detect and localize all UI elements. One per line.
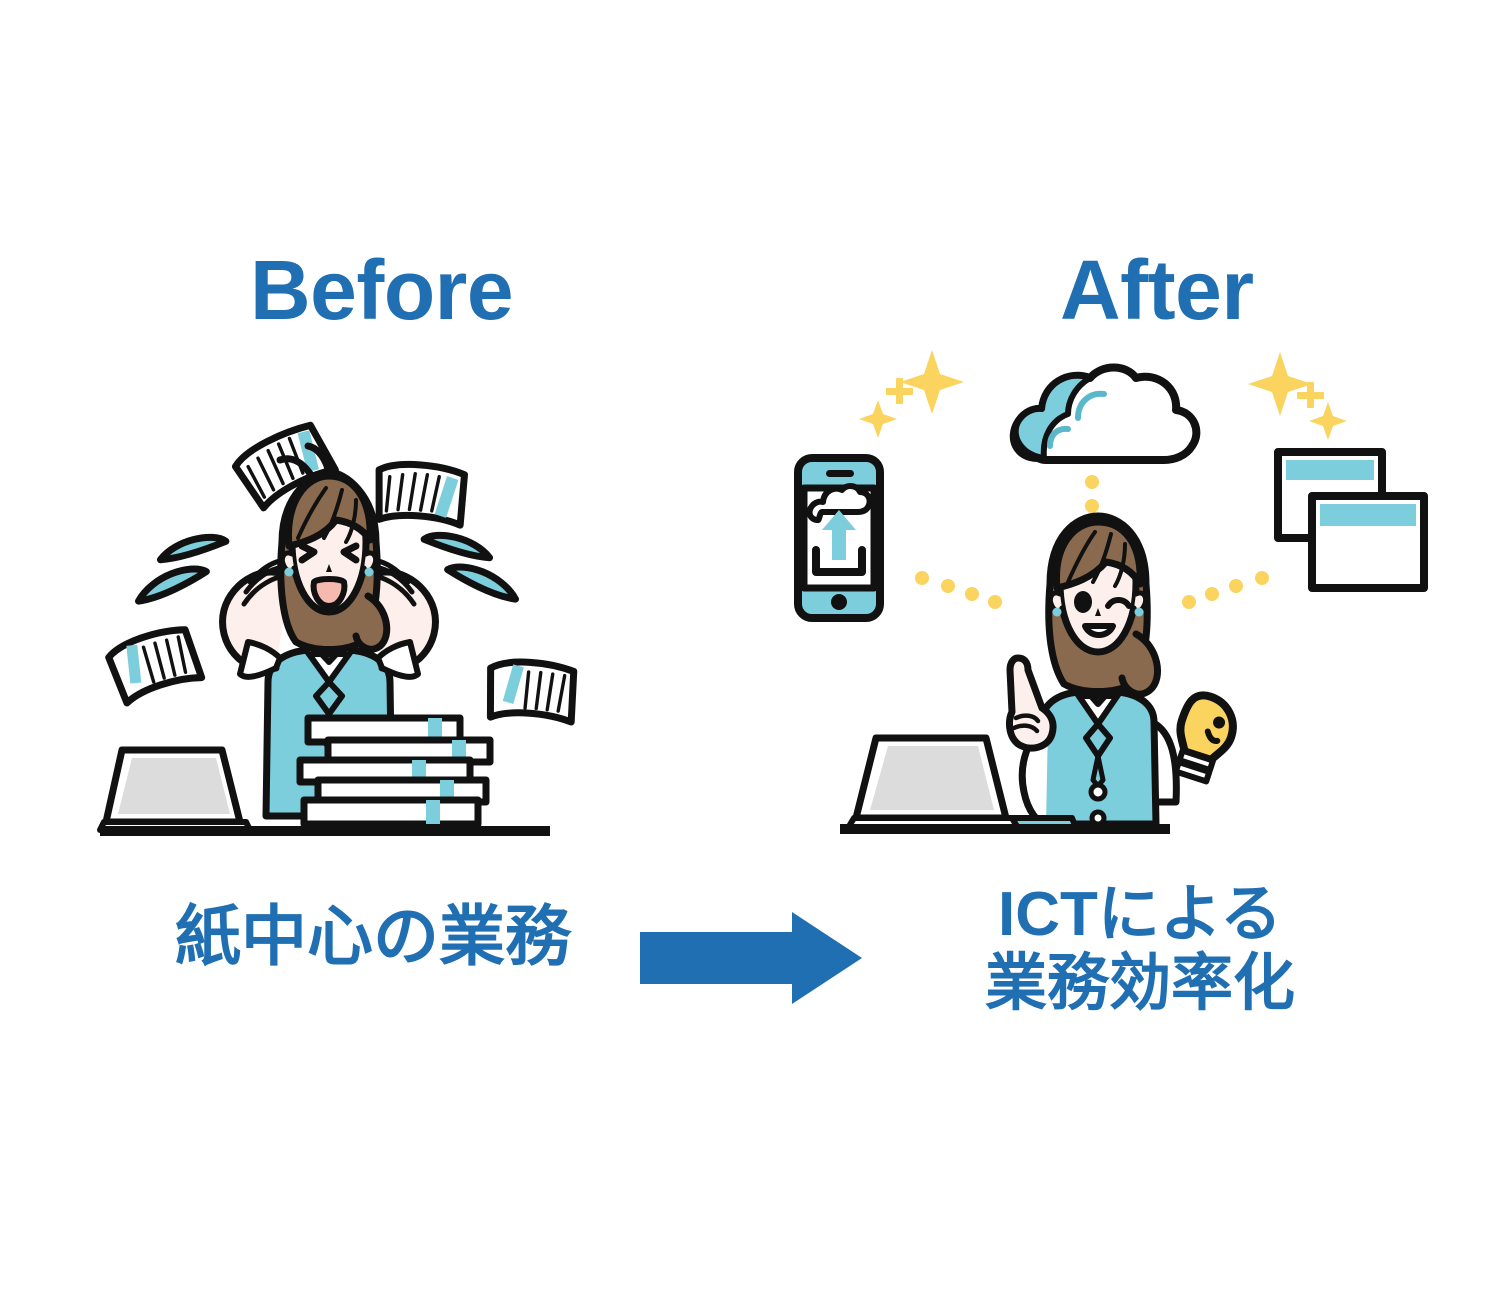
right-scene-ict-efficiency <box>780 340 1380 850</box>
flying-paper-4 <box>481 653 582 734</box>
sparkle-group-right <box>1248 352 1347 440</box>
heading-after: After <box>1060 248 1254 332</box>
laptop-left <box>100 750 250 830</box>
smartphone-upload-icon <box>798 458 880 618</box>
desk-line-left <box>100 826 550 836</box>
dotted-line-left <box>915 571 1002 609</box>
cloud-icon <box>1014 368 1197 461</box>
document-stack <box>300 718 490 824</box>
windows-icon <box>1278 452 1424 588</box>
caption-paper-centric: 紙中心の業務 <box>175 900 571 974</box>
caption-ict-line2: 業務効率化 <box>985 949 1295 1018</box>
caption-ict-line1: ICTによる <box>985 880 1295 949</box>
flying-paper-2 <box>367 453 472 539</box>
sweat-drop-right-2 <box>446 559 521 601</box>
sweat-drop-left-1 <box>158 532 227 561</box>
sparkle-group-left <box>859 350 964 438</box>
arrow-shape <box>640 912 862 1004</box>
left-scene-paper-centric <box>100 430 620 850</box>
illustration-canvas: Before After <box>0 0 1500 1300</box>
dotted-line-right <box>1182 571 1269 609</box>
heading-before: Before <box>250 248 513 332</box>
caption-ict-efficiency: ICTによる 業務効率化 <box>985 880 1295 1019</box>
sweat-drop-left-2 <box>134 561 209 603</box>
flying-paper-3 <box>106 627 204 705</box>
happy-woman <box>1010 516 1177 826</box>
desk-line-right <box>840 824 1170 834</box>
transition-arrow <box>640 912 870 1004</box>
sweat-drop-right-1 <box>423 530 492 559</box>
